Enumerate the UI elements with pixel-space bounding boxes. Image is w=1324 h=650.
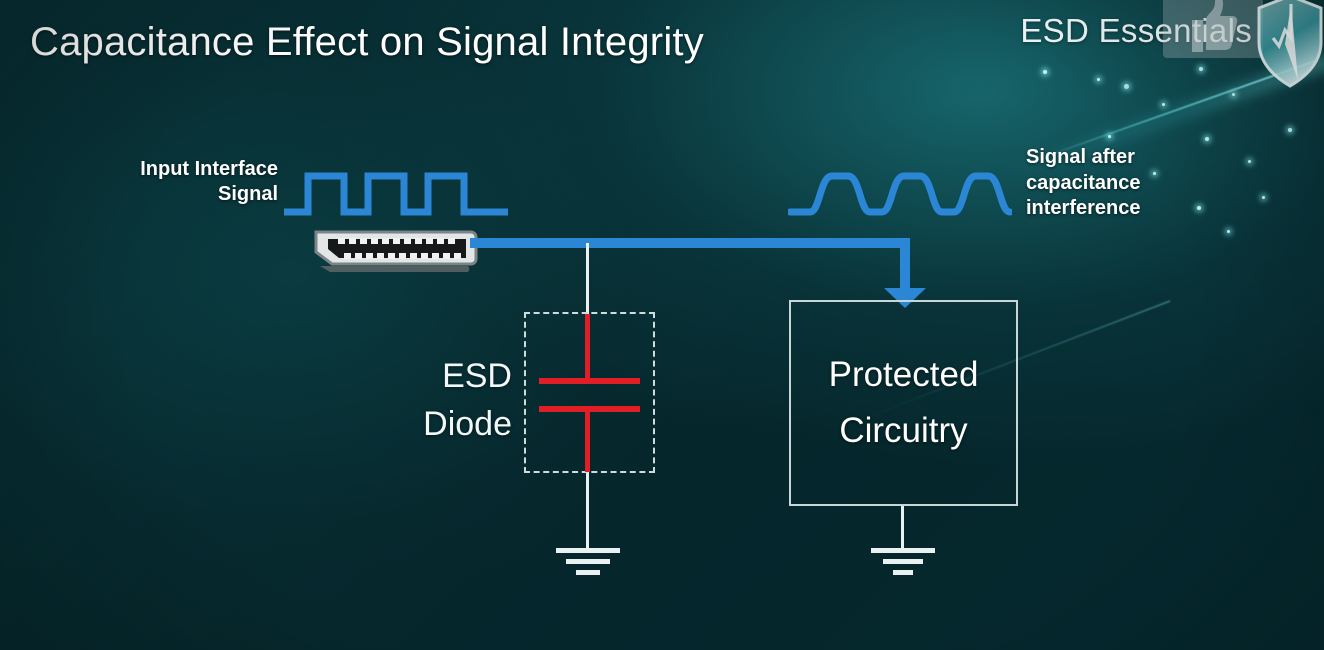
shield-pulse-icon (1255, 0, 1324, 90)
protected-circuitry-block: Protected Circuitry (789, 300, 1018, 506)
page-title: Capacitance Effect on Signal Integrity (30, 18, 704, 66)
protected-circuitry-label-line2: Circuitry (829, 403, 979, 459)
particle-dot (1232, 93, 1235, 96)
input-signal-label-line2: Signal (40, 182, 278, 207)
particle-dot (1043, 70, 1047, 74)
ground-icon-right (871, 548, 935, 578)
particle-dot (1108, 135, 1111, 138)
capacitor-plate-top (539, 378, 640, 384)
wire-circuitry-to-ground (901, 506, 904, 550)
wire-capacitor-to-ground (586, 463, 589, 551)
particle-dot (1162, 103, 1165, 106)
particle-dot (1248, 160, 1251, 163)
ground-icon-left (556, 548, 620, 578)
signal-trace-horizontal (470, 238, 910, 248)
input-signal-label: Input Interface Signal (40, 157, 278, 207)
protected-circuitry-label: Protected Circuitry (829, 347, 979, 459)
particle-dot (1097, 78, 1100, 81)
esd-diode-label-line2: Diode (380, 400, 512, 448)
protected-circuitry-label-line1: Protected (829, 347, 979, 403)
particle-dot (1205, 137, 1209, 141)
slide-canvas: Capacitance Effect on Signal Integrity E… (0, 0, 1324, 650)
signal-trace-vertical (900, 238, 910, 294)
hdmi-connector-icon (306, 228, 481, 276)
degraded-square-wave (788, 168, 1012, 220)
degraded-signal-label-line1: Signal after (1026, 145, 1236, 171)
wire-to-capacitor (586, 243, 589, 315)
degraded-signal-label-line2: capacitance (1026, 171, 1236, 197)
vignette-overlay (0, 0, 1324, 650)
esd-diode-label: ESD Diode (380, 352, 512, 449)
capacitor-lead-bottom (585, 410, 590, 472)
thumbs-up-icon (1186, 0, 1240, 54)
particle-dot (1227, 230, 1230, 233)
clean-square-wave (284, 168, 508, 220)
input-signal-label-line1: Input Interface (40, 157, 278, 182)
particle-dot (1288, 128, 1292, 132)
particle-dot (1124, 84, 1129, 89)
particle-dot (1262, 196, 1265, 199)
esd-diode-label-line1: ESD (380, 352, 512, 400)
degraded-signal-label: Signal after capacitance interference (1026, 145, 1236, 222)
capacitor-lead-top (585, 314, 590, 382)
degraded-signal-label-line3: interference (1026, 196, 1236, 222)
particle-dot (1199, 67, 1203, 71)
